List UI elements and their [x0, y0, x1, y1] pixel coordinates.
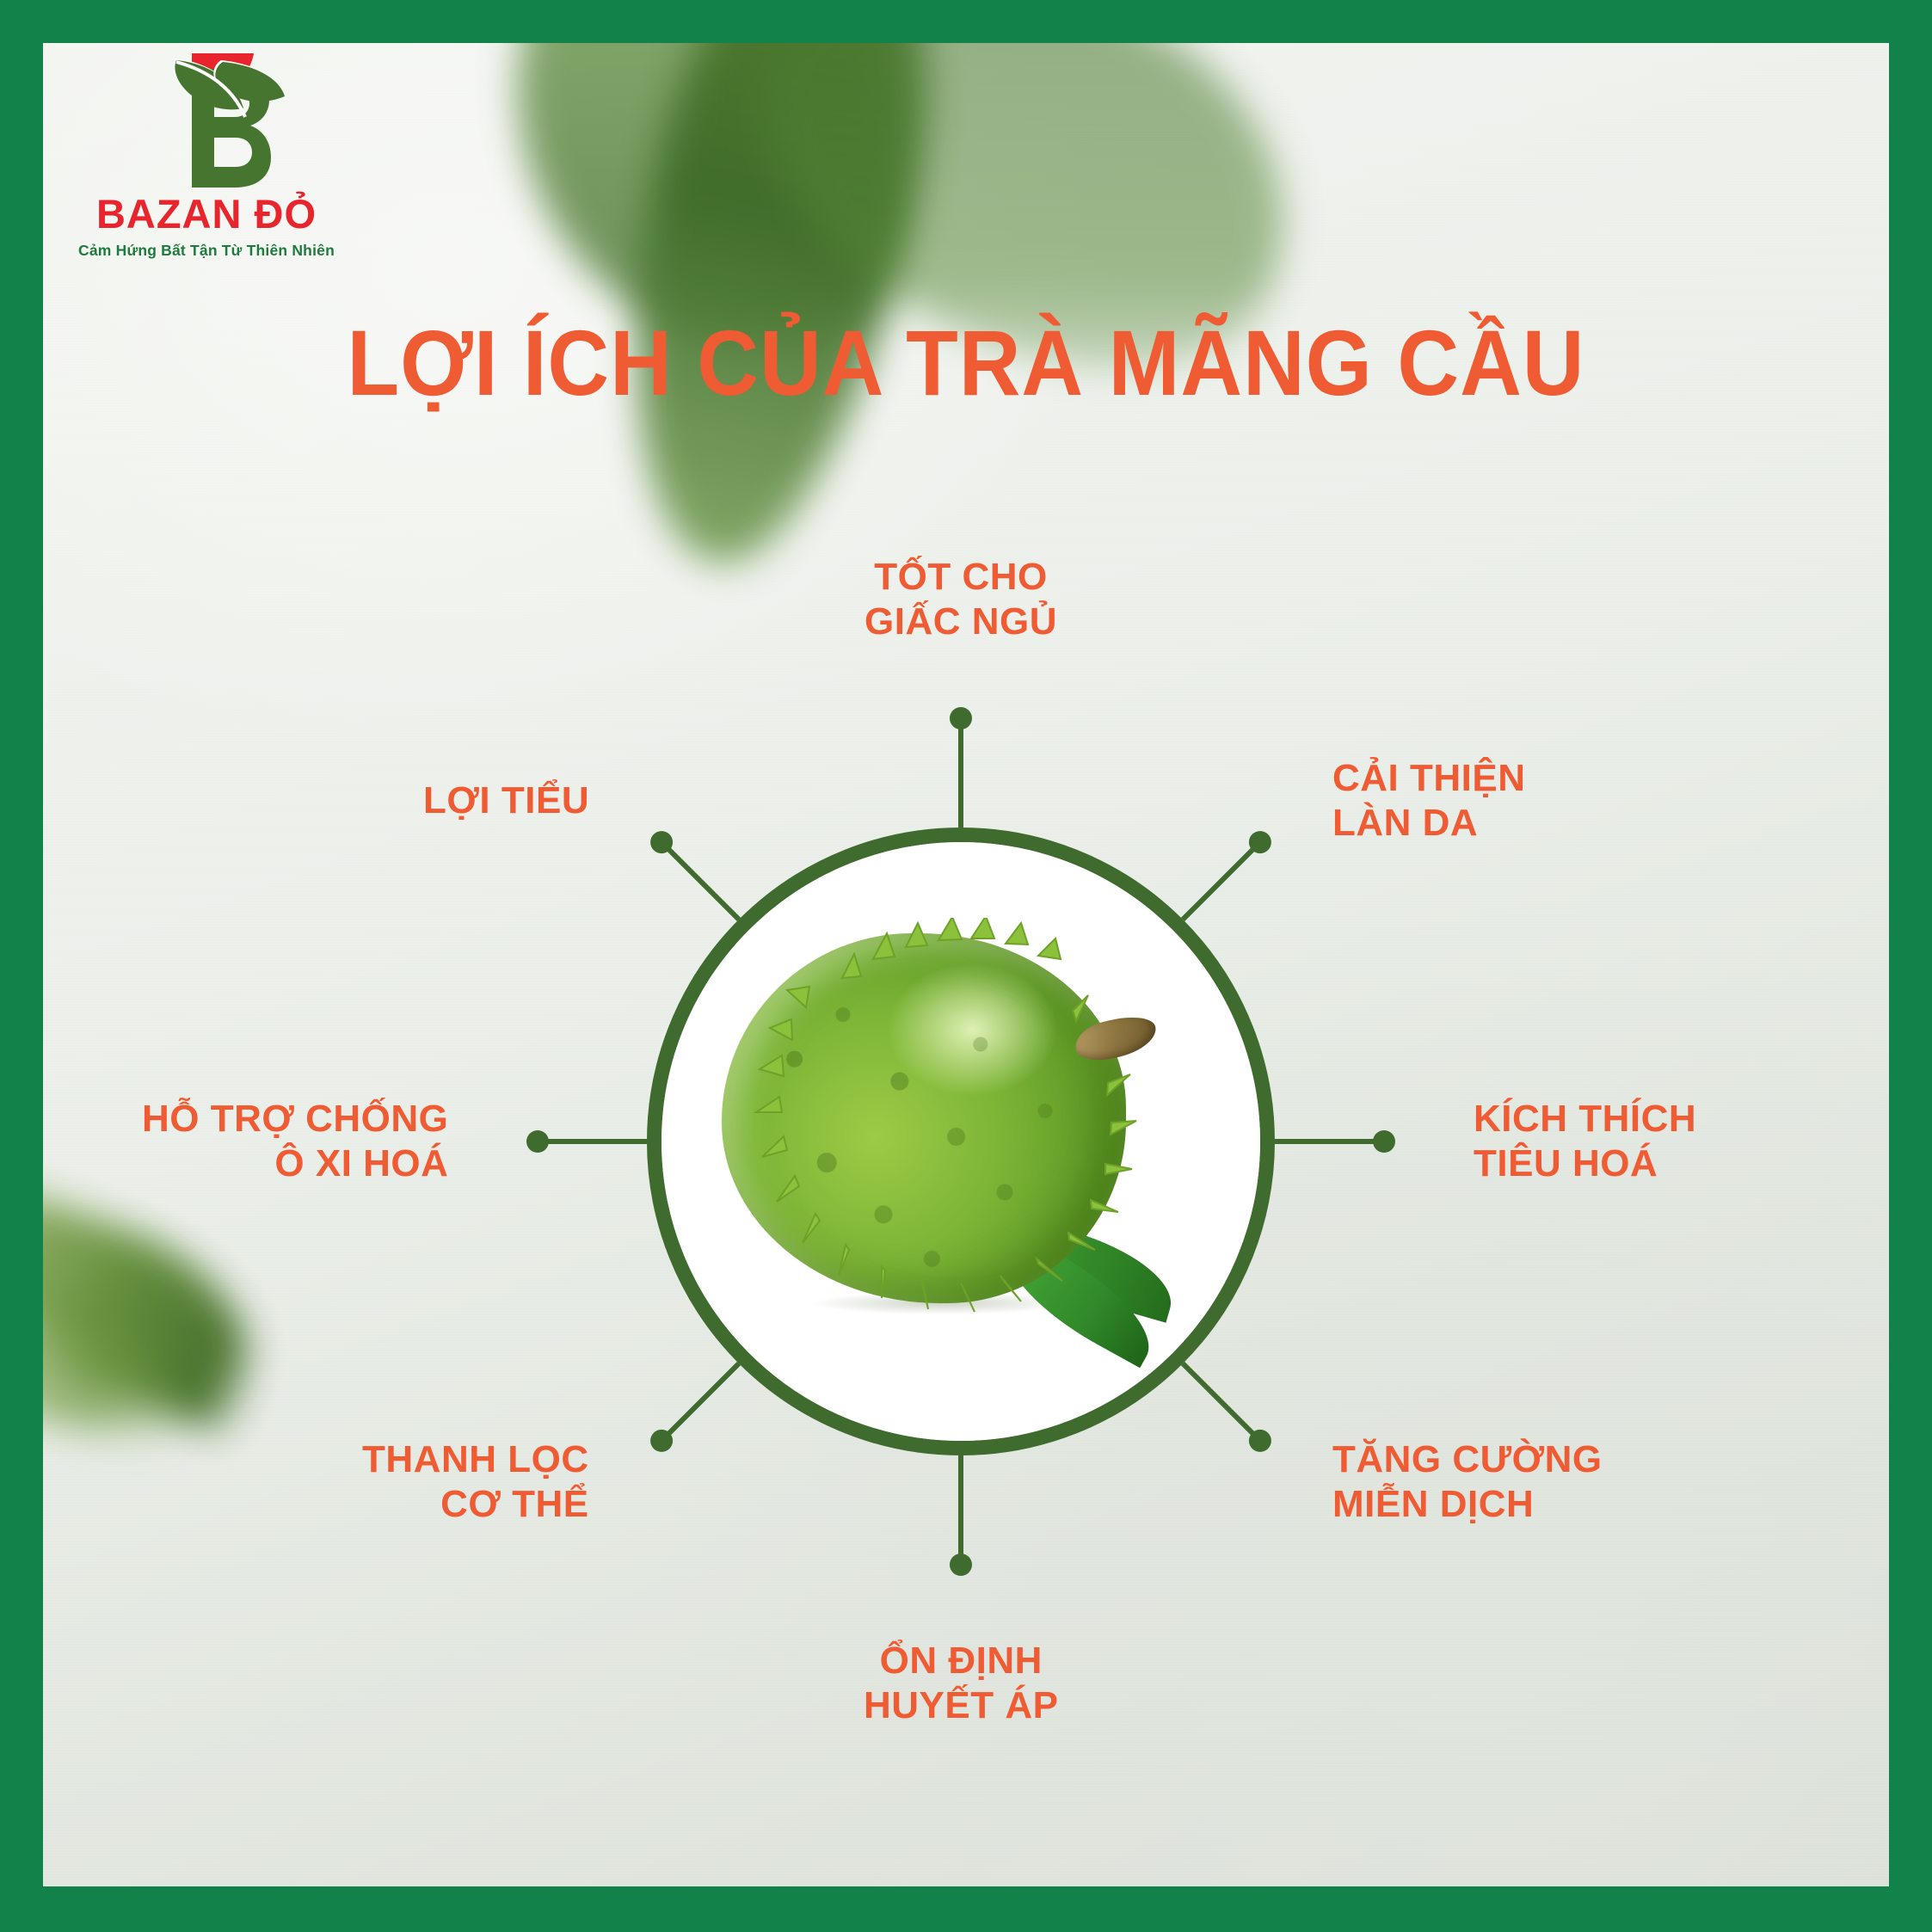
benefit-label-line1: KÍCH THÍCH — [1474, 1097, 1696, 1141]
benefit-label-line1: THANH LỌC — [362, 1437, 589, 1482]
page-title: LỢI ÍCH CỦA TRÀ MÃNG CẦU — [117, 317, 1815, 409]
benefits-wheel — [531, 711, 1391, 1572]
benefit-label-line2: TIÊU HOÁ — [1474, 1141, 1696, 1186]
spoke-dot — [526, 1130, 549, 1153]
benefit-label-sleep: TỐT CHOGIẤC NGỦ — [864, 555, 1057, 644]
benefit-label-detox: THANH LỌCCƠ THỂ — [362, 1437, 589, 1527]
brand-logo[interactable]: BAZAN ĐỎ Cảm Hứng Bất Tận Từ Thiên Nhiên — [60, 43, 353, 260]
fruit-spikes — [713, 918, 1160, 1322]
spoke-line — [542, 1139, 647, 1144]
benefit-label-line2: LÀN DA — [1332, 801, 1526, 846]
benefit-label-line2: Ô XI HOÁ — [142, 1141, 448, 1186]
benefit-label-pressure: ỔN ĐỊNHHUYẾT ÁP — [864, 1639, 1058, 1728]
poster-frame: BAZAN ĐỎ Cảm Hứng Bất Tận Từ Thiên Nhiên… — [43, 43, 1889, 1886]
poster-root: BAZAN ĐỎ Cảm Hứng Bất Tận Từ Thiên Nhiên… — [0, 0, 1932, 1932]
benefit-label-line2: HUYẾT ÁP — [864, 1683, 1058, 1728]
center-photo-ring — [647, 828, 1275, 1455]
benefit-label-line1: TĂNG CƯỜNG — [1332, 1437, 1603, 1482]
benefit-label-line2: MIỄN DỊCH — [1332, 1482, 1603, 1527]
benefit-label-line1: HỖ TRỢ CHỐNG — [142, 1097, 448, 1141]
benefit-label-diuretic: LỢI TIỂU — [423, 778, 589, 823]
spoke-dot — [950, 1554, 972, 1576]
soursop-illustration-icon — [713, 918, 1160, 1322]
benefit-label-line1: ỔN ĐỊNH — [864, 1639, 1058, 1683]
benefit-label-line1: LỢI TIỂU — [423, 778, 589, 823]
spoke-dot — [1373, 1130, 1395, 1153]
brand-tagline: Cảm Hứng Bất Tận Từ Thiên Nhiên — [60, 242, 353, 260]
spoke-dot — [950, 707, 972, 729]
brand-name: BAZAN ĐỎ — [60, 190, 353, 237]
benefit-label-immunity: TĂNG CƯỜNGMIỄN DỊCH — [1332, 1437, 1603, 1527]
spoke-line — [958, 1455, 963, 1560]
spoke-line — [958, 723, 963, 828]
spoke-line — [1275, 1139, 1380, 1144]
benefit-label-line2: CƠ THỂ — [362, 1482, 589, 1527]
leaf-b-monogram-icon — [125, 43, 288, 194]
soursop-fruit-photo — [661, 842, 1260, 1441]
benefit-label-line2: GIẤC NGỦ — [864, 600, 1057, 644]
benefit-label-skin: CẢI THIỆNLÀN DA — [1332, 756, 1526, 846]
benefit-label-line1: CẢI THIỆN — [1332, 756, 1526, 801]
benefit-label-digestion: KÍCH THÍCHTIÊU HOÁ — [1474, 1097, 1696, 1186]
benefit-label-line1: TỐT CHO — [864, 555, 1057, 600]
benefit-label-antioxidant: HỖ TRỢ CHỐNGÔ XI HOÁ — [142, 1097, 448, 1186]
